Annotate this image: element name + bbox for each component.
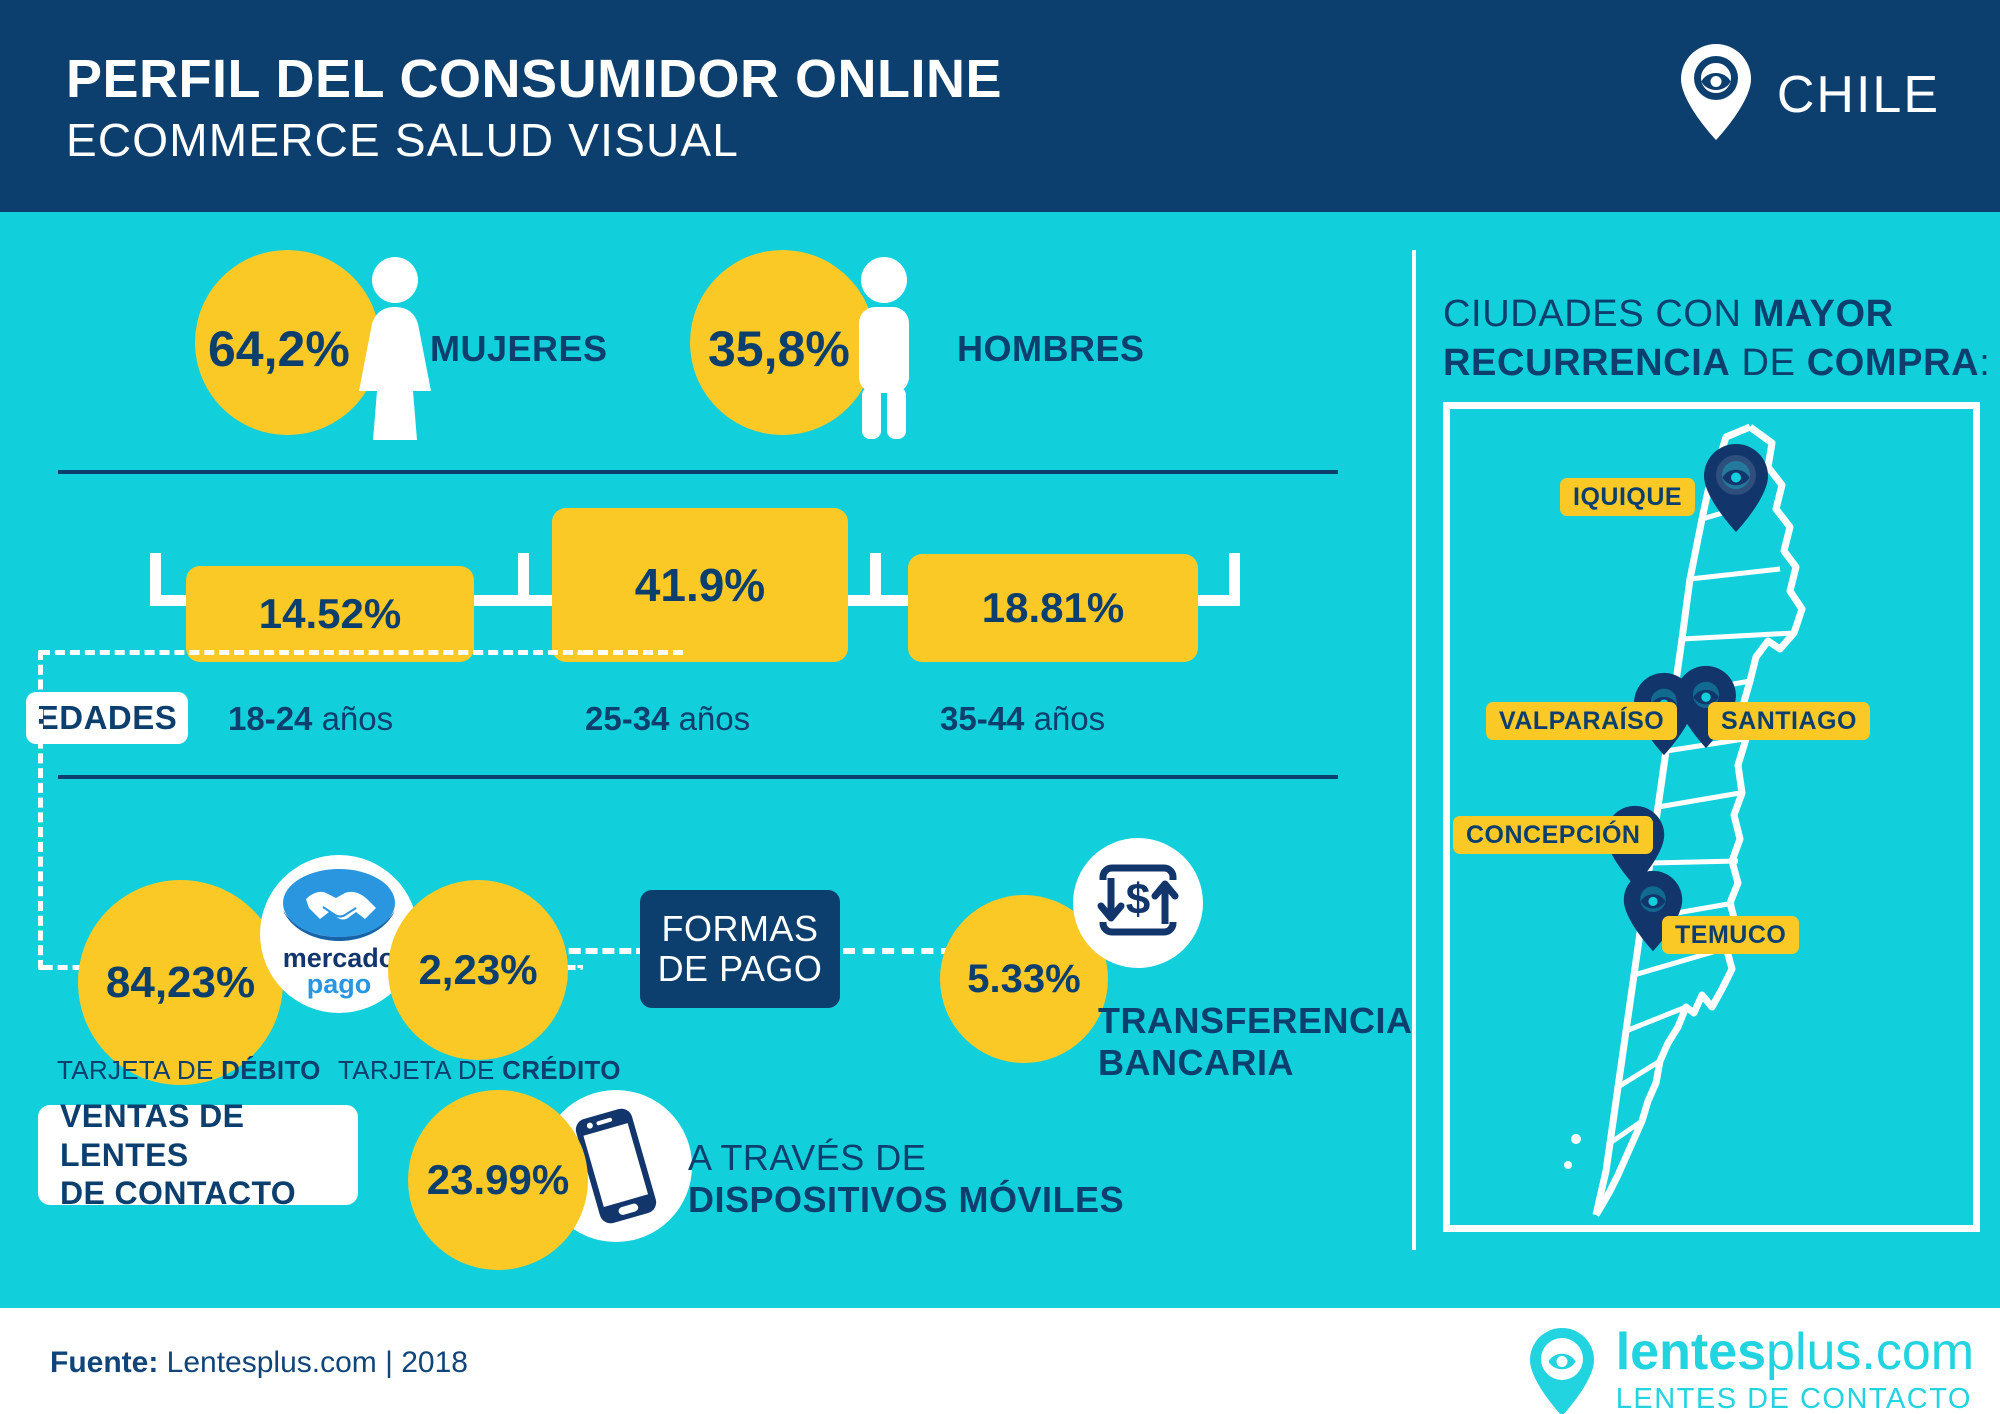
dashed-connector-top [583,650,683,655]
age-box-25-34: 41.9% [552,508,848,662]
map-heading-bold2: RECURRENCIA [1443,342,1730,384]
female-percent-value: 64,2% [208,320,350,378]
debit-caption-plain: TARJETA DE [57,1055,221,1085]
ventas-line1: VENTAS DE LENTES [60,1097,358,1174]
transfer-icon-badge: $ [1073,838,1203,968]
female-figure-icon [353,255,438,445]
age-label-35-44: 35-44 años [940,700,1105,738]
footer-brand-text: lentesplus.com [1616,1326,1978,1378]
age-box-18-24: 14.52% [186,566,474,662]
footer-tagline: LENTES DE CONTACTO [1616,1383,1978,1414]
map-heading-part1: CIUDADES CON [1443,293,1753,335]
age-bracket-tick-right [1229,553,1240,603]
map-panel-separator [1412,250,1416,1250]
formas-line2: DE PAGO [658,949,823,989]
debit-caption-bold: DÉBITO [221,1055,321,1085]
debit-caption: TARJETA DE DÉBITO [57,1055,321,1086]
footer-brand-logo[interactable]: lentesplus.com LENTES DE CONTACTO [1526,1326,1978,1414]
header-bar: PERFIL DEL CONSUMIDOR ONLINE ECOMMERCE S… [0,0,2000,212]
map-frame: IQUIQUE VALPARAÍSO SANTIAGO [1443,402,1980,1232]
page-subtitle: ECOMMERCE SALUD VISUAL [66,113,739,167]
mobile-label-line2: DISPOSITIVOS MÓVILES [688,1179,1124,1221]
footer-source: Fuente: Lentesplus.com | 2018 [50,1346,468,1380]
credit-caption-bold: CRÉDITO [502,1055,621,1085]
credit-caption-plain: TARJETA DE [338,1055,502,1085]
age-bracket-tick-left [150,553,161,603]
mobile-label-line1: A TRAVÉS DE [688,1137,1124,1179]
dashed-connector-right [843,948,953,954]
pin-iquique[interactable] [1700,442,1772,539]
location-pin-eye-icon [1526,1326,1598,1414]
ventas-line2: DE CONTACTO [60,1174,358,1212]
country-label: CHILE [1777,65,1940,125]
ventas-lentes-chip: VENTAS DE LENTES DE CONTACTO [38,1105,358,1205]
mobile-label: A TRAVÉS DE DISPOSITIVOS MÓVILES [688,1137,1124,1221]
location-pin-icon [1700,442,1772,534]
map-heading-part2: DE [1730,342,1806,384]
money-transfer-icon: $ [1073,838,1203,968]
credit-caption: TARJETA DE CRÉDITO [338,1055,621,1086]
page-title: PERFIL DEL CONSUMIDOR ONLINE [66,48,1002,110]
transfer-label: TRANSFERENCIA BANCARIA [1098,1000,1413,1084]
footer-source-label: Fuente: [50,1346,158,1379]
male-figure-icon [845,255,923,445]
credit-percent-circle: 2,23% [388,880,568,1060]
footer-wordmark: lentesplus.com LENTES DE CONTACTO [1616,1326,1978,1414]
age-bracket-tick-mid2 [870,553,881,603]
country-badge: CHILE [1677,42,1940,147]
transfer-label-line2: BANCARIA [1098,1042,1413,1084]
location-pin-eye-icon [1677,42,1755,147]
age-label-25-34: 25-34 años [585,700,750,738]
city-chip-temuco[interactable]: TEMUCO [1662,916,1799,954]
divider-top [58,470,1338,474]
age-unit-2: años [1034,700,1106,737]
formas-line1: FORMAS [661,909,818,949]
formas-de-pago-chip: FORMAS DE PAGO [640,890,840,1008]
male-percent-value: 35,8% [708,320,850,378]
age-range-25-34: 25-34 [585,700,669,737]
city-chip-iquique[interactable]: IQUIQUE [1560,478,1695,516]
footer-brand-bold: lentes [1616,1323,1766,1381]
city-chip-valparaiso[interactable]: VALPARAÍSO [1486,702,1677,740]
age-box-35-44: 18.81% [908,554,1198,662]
map-heading-bold3: COMPRA [1807,342,1980,384]
age-unit-1: años [679,700,751,737]
map-heading-part3: : [1979,342,1990,384]
footer-bar: Fuente: Lentesplus.com | 2018 lentesplus… [0,1308,2000,1414]
female-label: MUJERES [430,328,608,370]
city-chip-santiago[interactable]: SANTIAGO [1708,702,1870,740]
map-heading-bold1: MAYOR [1753,293,1894,335]
transfer-label-line1: TRANSFERENCIA [1098,1000,1413,1042]
map-heading: CIUDADES CON MAYOR RECURRENCIA DE COMPRA… [1443,290,1990,387]
infographic-root: PERFIL DEL CONSUMIDOR ONLINE ECOMMERCE S… [0,0,2000,1414]
mobile-percent-circle: 23.99% [408,1090,588,1270]
footer-brand-light: plus.com [1766,1323,1974,1381]
dollar-glyph: $ [1126,875,1150,924]
age-range-35-44: 35-44 [940,700,1024,737]
footer-source-value: Lentesplus.com | 2018 [158,1346,468,1379]
pago-word: pago [307,969,372,999]
age-bracket-tick-mid1 [518,553,529,603]
city-chip-concepcion[interactable]: CONCEPCIÓN [1453,816,1653,854]
male-label: HOMBRES [957,328,1145,370]
